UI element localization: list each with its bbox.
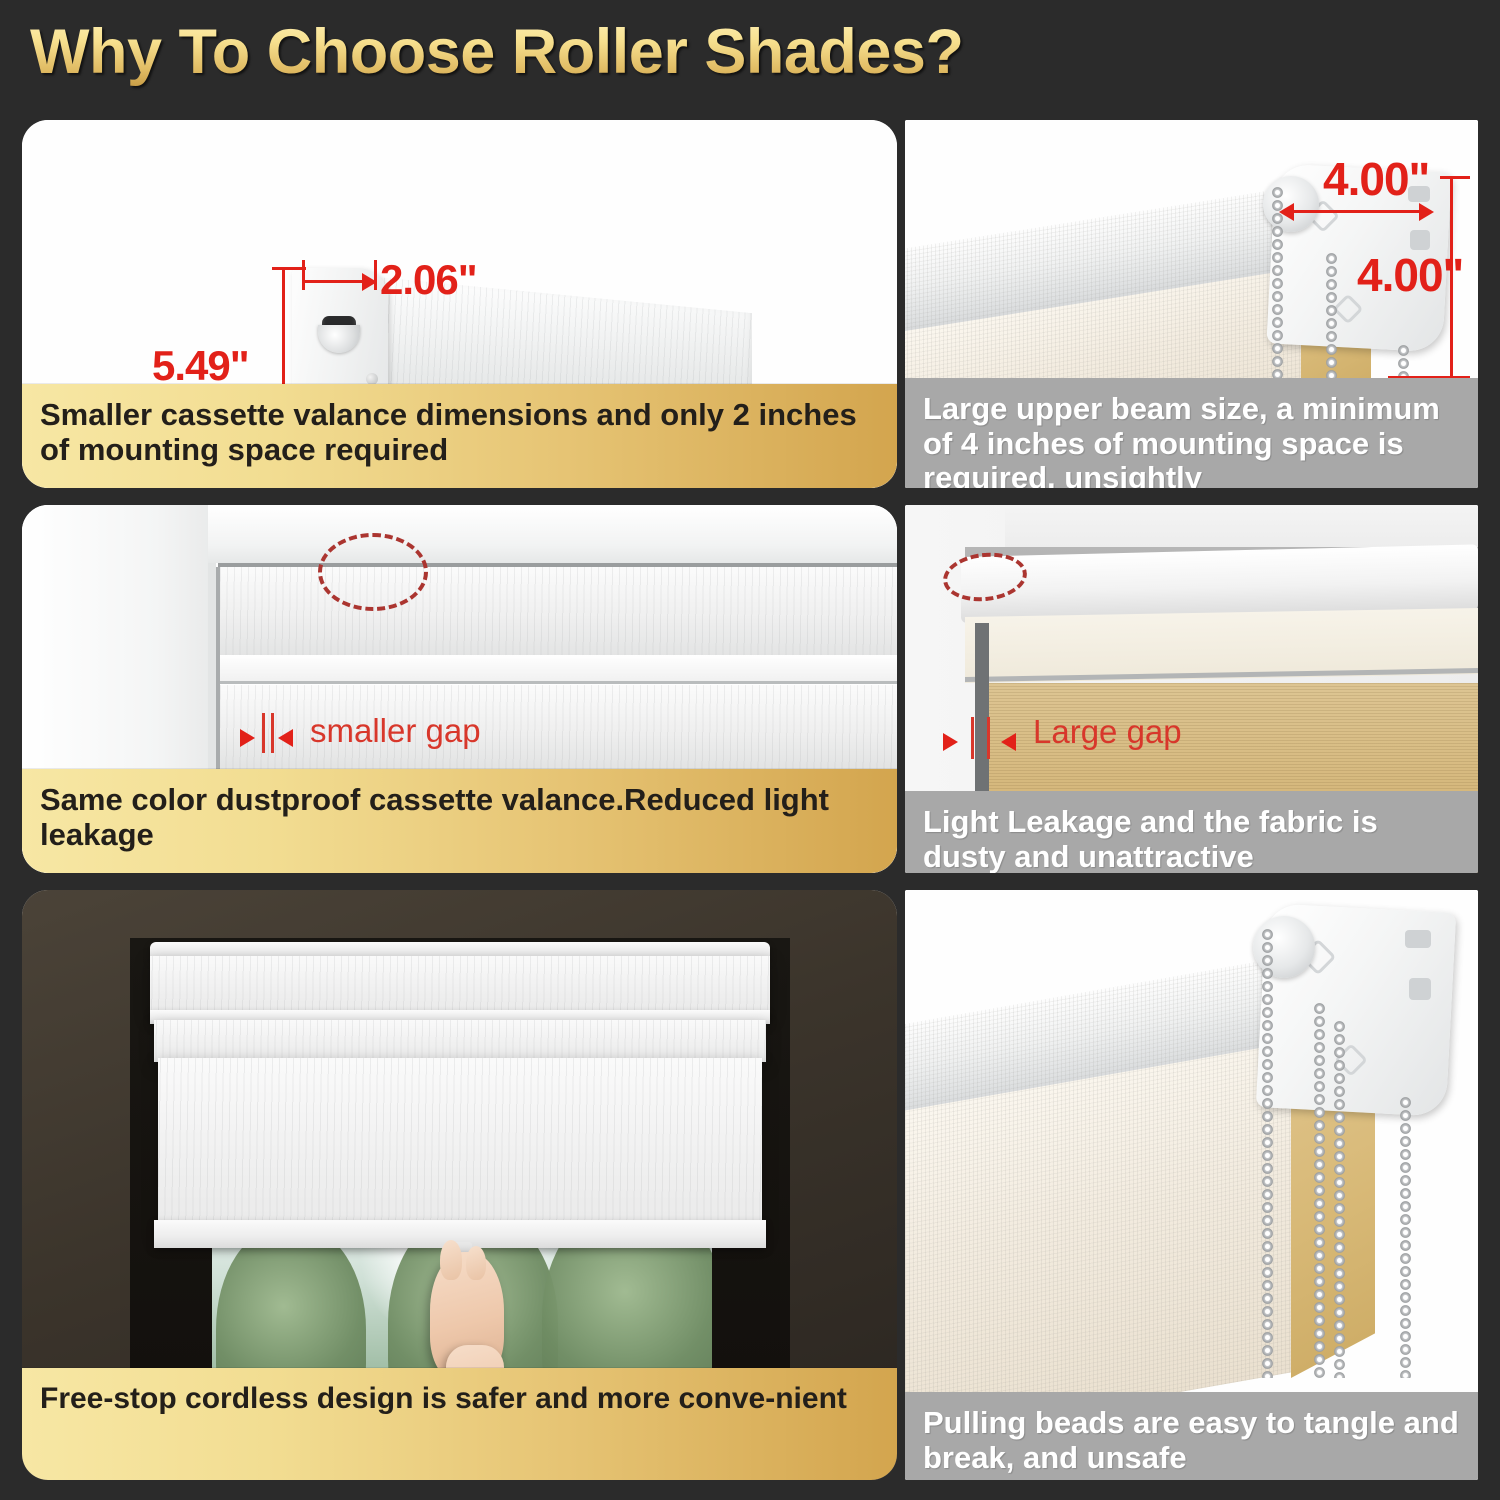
large-gap-arrow-from-left — [943, 733, 958, 751]
bracket-notch-mid — [1409, 978, 1431, 1000]
bead-chain-tail — [1399, 1096, 1412, 1378]
large-gap-label: Large gap — [1033, 713, 1182, 751]
panel-caption-pro-cassette-dimensions: Smaller cassette valance dimensions and … — [22, 384, 897, 488]
valance-lip-line — [218, 681, 897, 684]
width-dimension-tick-left — [302, 260, 305, 290]
index-finger — [440, 1240, 462, 1280]
panel-caption-pro-dustproof-cassette: Same color dustproof cassette valance.Re… — [22, 769, 897, 873]
shade-main-texture — [158, 1058, 762, 1238]
panel-pro-cassette-dimensions: 2.06" 5.49" Smaller cassette valance dim… — [22, 120, 897, 488]
panel-con-large-upper-beam: 4.00" 4.00" Large upper beam size, a min… — [905, 120, 1478, 488]
beam-width-dimension-line — [1283, 210, 1431, 213]
panel-caption-pro-cordless-design: Free-stop cordless design is safer and m… — [22, 1368, 897, 1480]
panel-caption-con-large-upper-beam: Large upper beam size, a minimum of 4 in… — [905, 378, 1478, 488]
gap-arrow-from-right — [278, 729, 293, 747]
bracket-notch-top — [1405, 930, 1431, 948]
gap-tick-right — [271, 713, 274, 753]
valance-gap-highlight — [318, 533, 428, 611]
beam-height-dimension-label: 4.00" — [1357, 248, 1463, 302]
window-frame-header — [208, 505, 897, 563]
thumb — [466, 1246, 486, 1280]
gap-arrow-from-left — [240, 729, 255, 747]
panel-con-pulling-beads: Pulling beads are easy to tangle and bre… — [905, 890, 1478, 1480]
valance-bottom-lip — [218, 655, 897, 683]
smaller-gap-label: smaller gap — [310, 712, 481, 750]
shade-upper-fold-texture — [154, 1020, 766, 1062]
width-dimension-arrow-right — [362, 273, 377, 291]
shade-main-fabric — [158, 1058, 762, 1238]
beam-width-arrow-left — [1279, 203, 1294, 221]
panel-con-light-leakage: Large gap Light Leakage and the fabric i… — [905, 505, 1478, 873]
shade-upper-fold — [154, 1020, 766, 1062]
beam-height-tick-top — [1440, 176, 1470, 179]
height-dimension-label: 5.49" — [152, 342, 249, 390]
bead-chain-front — [1261, 928, 1274, 1378]
bead-chain-middle — [1313, 1002, 1326, 1378]
large-gap-tick-left — [971, 717, 974, 759]
valance-texture — [150, 956, 770, 1014]
large-gap-tick-right — [987, 717, 990, 759]
large-gap-arrow-from-right — [1001, 733, 1016, 751]
panel-pro-dustproof-cassette: smaller gap Same color dustproof cassett… — [22, 505, 897, 873]
comparison-grid: 2.06" 5.49" Smaller cassette valance dim… — [0, 0, 1500, 1500]
cassette-valance-face — [150, 956, 770, 1014]
bracket-notch-mid — [1410, 230, 1430, 250]
bead-chain-inner — [1333, 1020, 1346, 1378]
panel-pro-cordless-design: Free-stop cordless design is safer and m… — [22, 890, 897, 1480]
beam-width-dimension-label: 4.00" — [1323, 152, 1429, 206]
panel-caption-con-light-leakage: Light Leakage and the fabric is dusty an… — [905, 791, 1478, 873]
gap-tick-left — [262, 713, 265, 753]
width-dimension-label: 2.06" — [380, 256, 477, 304]
height-dimension-tick-top — [272, 267, 306, 270]
panel-caption-con-pulling-beads: Pulling beads are easy to tangle and bre… — [905, 1392, 1478, 1480]
